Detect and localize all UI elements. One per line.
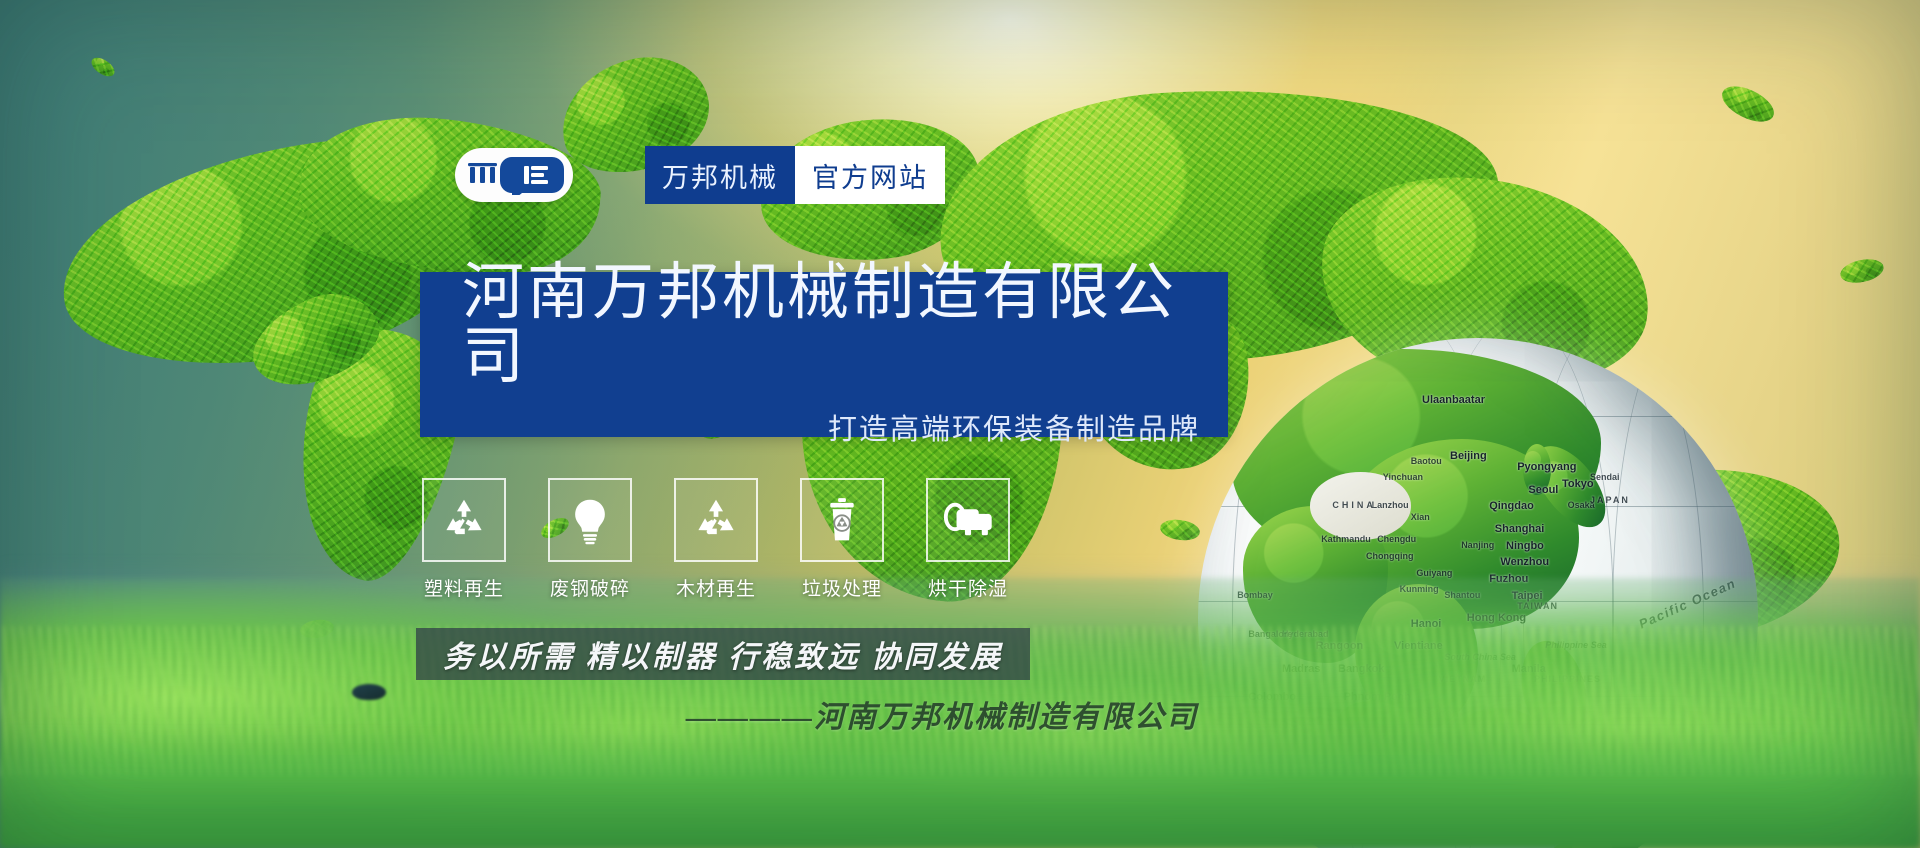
globe-label: Nanjing	[1461, 540, 1494, 550]
globe-region-label: JAPAN	[1590, 495, 1630, 505]
island-fleck-3	[1159, 517, 1201, 542]
dryer-blower-icon	[942, 497, 994, 543]
globe-label: Guiyang	[1416, 568, 1452, 578]
globe-label: Wenzhou	[1500, 556, 1549, 568]
feature-label: 废钢破碎	[550, 574, 630, 601]
globe-label: Qingdao	[1489, 500, 1534, 512]
island-fleck-5	[1717, 79, 1780, 129]
globe-label: Sendai	[1590, 472, 1620, 482]
grass-foreground-blur	[0, 728, 1920, 848]
wanbang-logo[interactable]	[455, 148, 573, 202]
feature-list: 塑料再生 废钢破碎	[418, 478, 1014, 601]
globe-label: Tokyo	[1562, 478, 1594, 490]
motto-bar: 务以所需 精以制器 行稳致远 协同发展	[416, 628, 1030, 680]
trash-bin-recycle-icon	[817, 495, 867, 545]
globe-label: Seoul	[1528, 484, 1558, 496]
main-nav[interactable]: 万邦机械 官方网站	[645, 146, 945, 204]
island-fleck-7	[88, 54, 117, 80]
feature-item-waste-treatment[interactable]: 垃圾处理	[796, 478, 888, 601]
globe-label: Yinchuan	[1383, 472, 1423, 482]
globe-label: Lanzhou	[1372, 500, 1409, 510]
island-fleck-6	[1838, 256, 1886, 287]
globe-label: Ulaanbaatar	[1422, 394, 1485, 406]
page-title: 河南万邦机械制造有限公司	[420, 261, 1228, 387]
feature-item-drying-dehumidifying[interactable]: 烘干除湿	[922, 478, 1014, 601]
feature-item-plastic-recycling[interactable]: 塑料再生	[418, 478, 510, 601]
page-subtitle: 打造高端环保装备制造品牌	[420, 406, 1228, 448]
feature-icon-box	[674, 478, 758, 562]
feature-icon-box	[926, 478, 1010, 562]
feature-item-wood-recycling[interactable]: 木材再生	[670, 478, 762, 601]
tab-wanbang-jixie[interactable]: 万邦机械	[645, 146, 795, 204]
grass-insect	[352, 684, 386, 700]
recycle-icon	[439, 495, 489, 545]
globe-region-label: CHINA	[1332, 500, 1376, 510]
globe-label: Chongqing	[1366, 551, 1413, 561]
feature-label: 塑料再生	[424, 574, 504, 601]
feature-label: 木材再生	[676, 574, 756, 601]
globe-label: Pyongyang	[1517, 461, 1576, 473]
globe-label: Beijing	[1450, 450, 1487, 462]
feature-icon-box	[422, 478, 506, 562]
tab-official-site[interactable]: 官方网站	[795, 146, 945, 204]
lightbulb-icon	[565, 495, 615, 545]
hero-banner: Ulaanbaatar Beijing Seoul Tokyo Sendai O…	[0, 0, 1920, 848]
feature-icon-box	[800, 478, 884, 562]
globe-label: Shanghai	[1495, 523, 1545, 535]
logo-mark-icon	[462, 155, 566, 195]
company-motto: 务以所需 精以制器 行稳致远 协同发展	[443, 632, 1003, 676]
hero-title-box: 河南万邦机械制造有限公司 打造高端环保装备制造品牌	[420, 272, 1228, 437]
recycle-icon	[691, 495, 741, 545]
motto-attribution: ————河南万邦机械制造有限公司	[686, 692, 1206, 736]
feature-label: 垃圾处理	[802, 574, 882, 601]
feature-label: 烘干除湿	[928, 574, 1008, 601]
globe-label: Xian	[1411, 512, 1430, 522]
globe-label: Kathmandu	[1321, 534, 1371, 544]
globe-label: Chengdu	[1377, 534, 1416, 544]
feature-item-scrap-steel-crushing[interactable]: 废钢破碎	[544, 478, 636, 601]
globe-label: Baotou	[1411, 456, 1442, 466]
globe-label: Ningbo	[1506, 540, 1544, 552]
feature-icon-box	[548, 478, 632, 562]
